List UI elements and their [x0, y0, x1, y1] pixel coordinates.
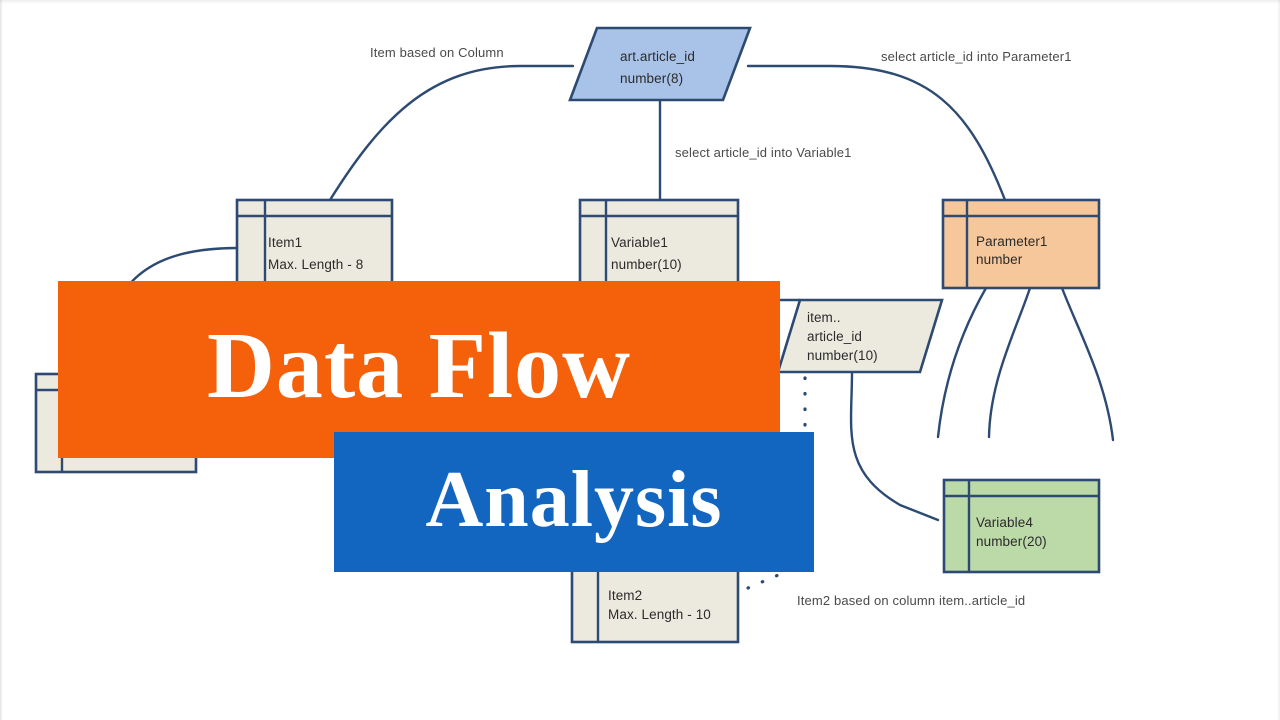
edge-parameter1-fan-1 — [938, 288, 986, 437]
node-variable1-line-0: Variable1 — [611, 235, 668, 250]
node-item2-line-0: Item2 — [608, 588, 642, 603]
node-art-article-id[interactable]: art.article_id number(8) — [570, 28, 750, 100]
node-variable4-line-0: Variable4 — [976, 515, 1033, 530]
node-item-article-id-line-0: item.. — [807, 310, 841, 325]
edge-column-to-item1 — [330, 66, 573, 200]
title-banner-orange-label: Data Flow — [207, 319, 631, 413]
node-item1-line-1: Max. Length - 8 — [268, 257, 363, 272]
node-art-article-id-line-1: number(8) — [620, 71, 683, 86]
title-banner-blue-label: Analysis — [426, 460, 723, 540]
node-item-article-id-line-1: article_id — [807, 329, 862, 344]
data-flow-analysis-slide: art.article_id number(8) Item1 Max. Leng… — [0, 0, 1280, 720]
node-parameter1-line-1: number — [976, 252, 1023, 267]
edge-label-item-based-on-column: Item based on Column — [370, 45, 504, 60]
edge-label-select-into-variable1: select article_id into Variable1 — [675, 145, 852, 160]
node-variable1-line-1: number(10) — [611, 257, 682, 272]
edge-parameter1-fan-2 — [989, 288, 1030, 437]
node-item-article-id[interactable]: item.. article_id number(10) — [778, 300, 942, 372]
node-variable4-line-1: number(20) — [976, 534, 1047, 549]
node-parameter1[interactable]: Parameter1 number — [943, 200, 1099, 288]
frame-edge-top — [0, 0, 1280, 4]
edge-label-item2-based-on-column: Item2 based on column item..article_id — [797, 593, 1025, 608]
title-banner-blue: Analysis — [334, 432, 814, 572]
node-art-article-id-shape — [570, 28, 750, 100]
node-item1-line-0: Item1 — [268, 235, 302, 250]
node-art-article-id-line-0: art.article_id — [620, 49, 695, 64]
node-item-article-id-line-2: number(10) — [807, 348, 878, 363]
edge-column-to-parameter1 — [748, 66, 1005, 200]
edge-label-select-into-parameter1: select article_id into Parameter1 — [881, 49, 1072, 64]
edge-itemcol-to-variable4 — [851, 372, 938, 520]
edge-parameter1-fan-3 — [1062, 288, 1113, 440]
node-item2-line-1: Max. Length - 10 — [608, 607, 711, 622]
node-variable4[interactable]: Variable4 number(20) — [944, 480, 1099, 572]
dotted-line-item2 — [748, 570, 790, 588]
frame-edge-left — [0, 0, 3, 720]
node-parameter1-line-0: Parameter1 — [976, 234, 1048, 249]
